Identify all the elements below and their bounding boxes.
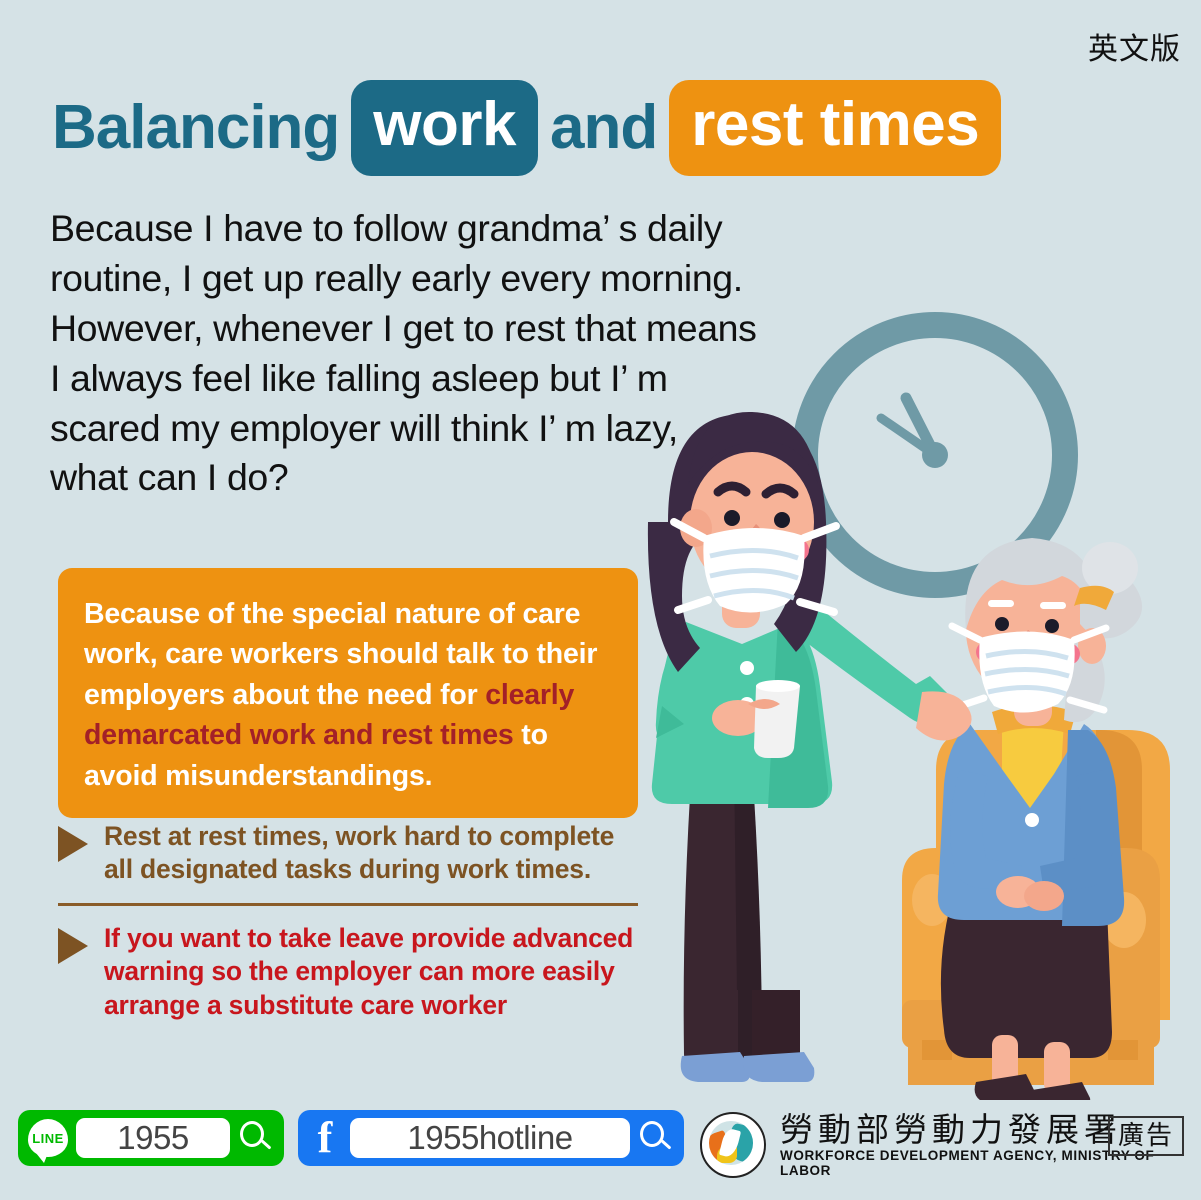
facebook-icon: f (308, 1115, 342, 1161)
search-icon[interactable] (638, 1118, 674, 1158)
line-icon: LINE (28, 1119, 68, 1157)
ad-badge: 廣告 (1108, 1116, 1184, 1156)
tip-text-1: Rest at rest times, work hard to complet… (104, 820, 643, 887)
title-word-balancing: Balancing (52, 97, 339, 159)
footer-bar: LINE 1955 f 1955hotline (0, 1096, 1201, 1200)
triangle-bullet-icon (58, 826, 88, 862)
title-word-and: and (550, 97, 657, 159)
illustration (640, 300, 1201, 1100)
facebook-page-value: 1955hotline (350, 1118, 630, 1158)
infographic-canvas: 英文版 Balancing work and rest times Becaus… (0, 0, 1201, 1200)
tip-text-2: If you want to take leave provide advanc… (104, 922, 643, 1022)
agency-emblem-icon (700, 1112, 766, 1178)
page-title: Balancing work and rest times (52, 82, 1001, 174)
answer-card: Because of the special nature of care wo… (58, 568, 638, 818)
language-tag: 英文版 (1088, 24, 1181, 68)
title-badge-work: work (351, 80, 538, 176)
tips-list: Rest at rest times, work hard to complet… (58, 820, 643, 1022)
line-contact-chip[interactable]: LINE 1955 (18, 1110, 284, 1166)
list-item: If you want to take leave provide advanc… (58, 922, 643, 1022)
triangle-bullet-icon (58, 928, 88, 964)
search-icon[interactable] (238, 1118, 274, 1158)
line-icon-label: LINE (32, 1131, 64, 1146)
list-divider (58, 903, 638, 906)
line-id-value: 1955 (76, 1118, 230, 1158)
title-badge-rest-times: rest times (669, 80, 1001, 176)
facebook-contact-chip[interactable]: f 1955hotline (298, 1110, 684, 1166)
list-item: Rest at rest times, work hard to complet… (58, 820, 643, 887)
